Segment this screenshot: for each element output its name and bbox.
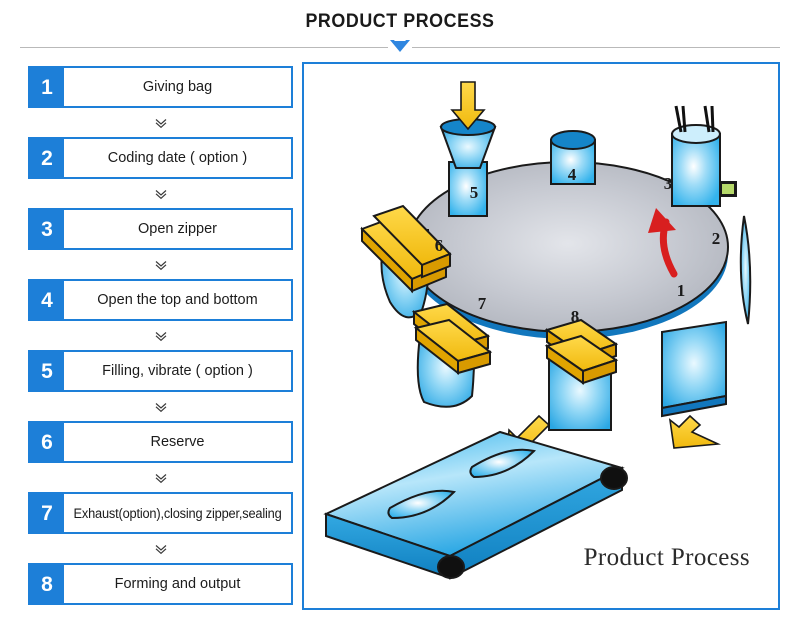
station-number-1: 1 <box>677 281 686 300</box>
station-number-8: 8 <box>571 307 580 326</box>
double-chevron-down-icon <box>28 392 293 421</box>
sensor-box <box>719 181 737 197</box>
machine-diagram-panel: 1 2 3 4 5 6 7 8 Product Process <box>302 62 780 610</box>
process-step-3[interactable]: 3 Open zipper <box>28 208 293 250</box>
bag-blade-icon <box>741 216 750 324</box>
rotary-packing-machine-illustration: 1 2 3 4 5 6 7 8 <box>304 64 778 608</box>
step-label: Coding date ( option ) <box>64 139 291 177</box>
station-8-module <box>547 320 616 430</box>
station-number-3: 3 <box>664 174 673 193</box>
step-number-badge: 2 <box>30 139 64 177</box>
step-label: Exhaust(option),closing zipper,sealing <box>70 494 286 532</box>
step-number-badge: 6 <box>30 423 64 461</box>
step-label: Giving bag <box>64 68 291 106</box>
step-number-badge: 4 <box>30 281 64 319</box>
double-chevron-down-icon <box>28 250 293 279</box>
page-title: PRODUCT PROCESS <box>24 11 776 33</box>
step-label: Reserve <box>64 423 291 461</box>
double-chevron-down-icon <box>28 179 293 208</box>
output-conveyor <box>326 432 627 578</box>
step-number-badge: 8 <box>30 565 64 603</box>
step-number-badge: 3 <box>30 210 64 248</box>
step-label: Open zipper <box>64 210 291 248</box>
step-number-badge: 7 <box>30 494 64 532</box>
station-number-7: 7 <box>478 294 487 313</box>
double-chevron-down-icon <box>28 463 293 492</box>
process-step-8[interactable]: 8 Forming and output <box>28 563 293 605</box>
step-number-badge: 5 <box>30 352 64 390</box>
bag-infeed-arrow-icon <box>670 416 718 448</box>
process-step-6[interactable]: 6 Reserve <box>28 421 293 463</box>
step-label: Forming and output <box>64 565 291 603</box>
product-process-page: PRODUCT PROCESS 1 Giving bag 2 Coding da… <box>0 0 800 632</box>
station-number-5: 5 <box>470 183 479 202</box>
station-number-6: 6 <box>435 236 444 255</box>
process-step-5[interactable]: 5 Filling, vibrate ( option ) <box>28 350 293 392</box>
process-step-7[interactable]: 7 Exhaust(option),closing zipper,sealing <box>28 492 293 534</box>
double-chevron-down-icon <box>28 108 293 137</box>
process-step-2[interactable]: 2 Coding date ( option ) <box>28 137 293 179</box>
process-step-list: 1 Giving bag 2 Coding date ( option ) 3 … <box>28 66 293 605</box>
step-label: Filling, vibrate ( option ) <box>64 352 291 390</box>
double-chevron-down-icon <box>28 321 293 350</box>
station-number-2: 2 <box>712 229 721 248</box>
page-header: PRODUCT PROCESS <box>0 0 800 56</box>
process-step-1[interactable]: 1 Giving bag <box>28 66 293 108</box>
step-number-badge: 1 <box>30 68 64 106</box>
diagram-caption: Product Process <box>584 544 750 572</box>
step-label: Open the top and bottom <box>64 281 291 319</box>
station-1-bag-magazine <box>662 322 726 416</box>
chevron-down-icon <box>388 39 412 56</box>
station-5-module <box>441 119 495 216</box>
double-chevron-down-icon <box>28 534 293 563</box>
station-number-4: 4 <box>568 165 577 184</box>
station-3-module <box>672 106 737 206</box>
process-step-4[interactable]: 4 Open the top and bottom <box>28 279 293 321</box>
